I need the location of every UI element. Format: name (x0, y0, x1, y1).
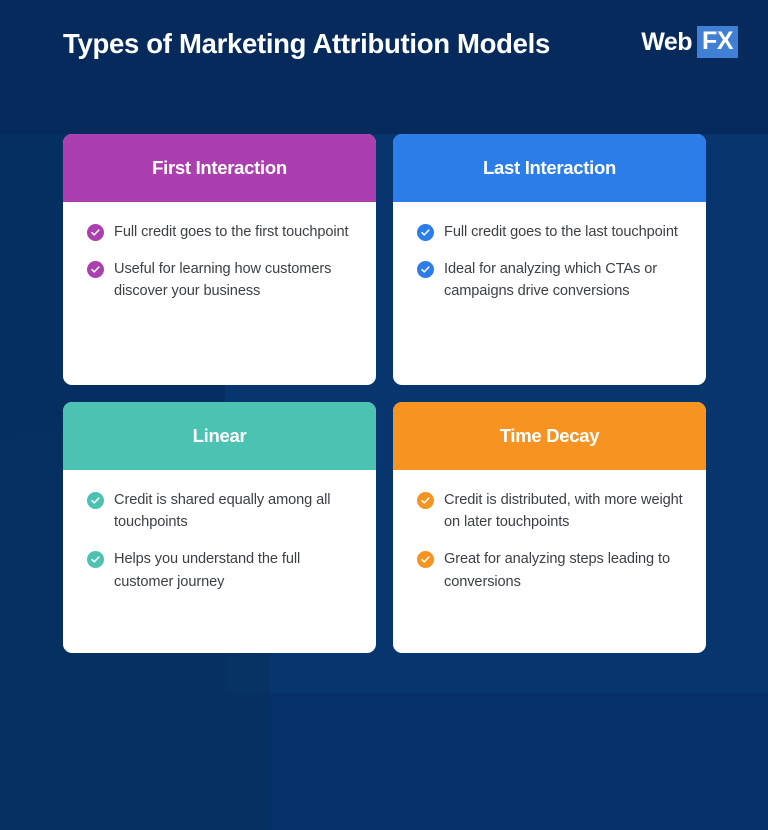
card-body: Full credit goes to the first touchpoint… (63, 202, 376, 385)
webfx-logo: Web FX (641, 26, 738, 58)
card-body: Credit is shared equally among all touch… (63, 470, 376, 653)
list-item: Helps you understand the full customer j… (87, 548, 356, 592)
page-title: Types of Marketing Attribution Models (63, 26, 583, 62)
header: Types of Marketing Attribution Models We… (0, 0, 768, 134)
card-header: Time Decay (393, 402, 706, 470)
attribution-card: First InteractionFull credit goes to the… (63, 134, 376, 385)
card-title: Time Decay (500, 425, 600, 447)
attribution-model-grid: First InteractionFull credit goes to the… (63, 134, 706, 653)
list-item-label: Great for analyzing steps leading to con… (444, 548, 686, 592)
card-body: Full credit goes to the last touchpointI… (393, 202, 706, 385)
card-header: Linear (63, 402, 376, 470)
attribution-card: Time DecayCredit is distributed, with mo… (393, 402, 706, 653)
card-title: Last Interaction (483, 157, 616, 179)
list-item-label: Full credit goes to the last touchpoint (444, 221, 678, 243)
check-circle-icon (417, 492, 434, 509)
list-item: Credit is shared equally among all touch… (87, 489, 356, 533)
logo-badge: FX (697, 26, 738, 58)
check-circle-icon (417, 551, 434, 568)
list-item-label: Useful for learning how customers discov… (114, 258, 356, 302)
check-circle-icon (87, 551, 104, 568)
check-circle-icon (87, 492, 104, 509)
attribution-card: Last InteractionFull credit goes to the … (393, 134, 706, 385)
card-header: First Interaction (63, 134, 376, 202)
check-circle-icon (417, 261, 434, 278)
check-circle-icon (87, 224, 104, 241)
list-item: Great for analyzing steps leading to con… (417, 548, 686, 592)
card-title: Linear (193, 425, 247, 447)
list-item-label: Credit is shared equally among all touch… (114, 489, 356, 533)
list-item-label: Credit is distributed, with more weight … (444, 489, 686, 533)
list-item-label: Helps you understand the full customer j… (114, 548, 356, 592)
list-item: Full credit goes to the first touchpoint (87, 221, 356, 243)
card-body: Credit is distributed, with more weight … (393, 470, 706, 653)
list-item: Credit is distributed, with more weight … (417, 489, 686, 533)
check-circle-icon (87, 261, 104, 278)
card-header: Last Interaction (393, 134, 706, 202)
logo-wordmark: Web (641, 30, 692, 55)
list-item: Full credit goes to the last touchpoint (417, 221, 686, 243)
list-item-label: Full credit goes to the first touchpoint (114, 221, 349, 243)
list-item-label: Ideal for analyzing which CTAs or campai… (444, 258, 686, 302)
list-item: Useful for learning how customers discov… (87, 258, 356, 302)
check-circle-icon (417, 224, 434, 241)
attribution-card: LinearCredit is shared equally among all… (63, 402, 376, 653)
card-title: First Interaction (152, 157, 287, 179)
list-item: Ideal for analyzing which CTAs or campai… (417, 258, 686, 302)
